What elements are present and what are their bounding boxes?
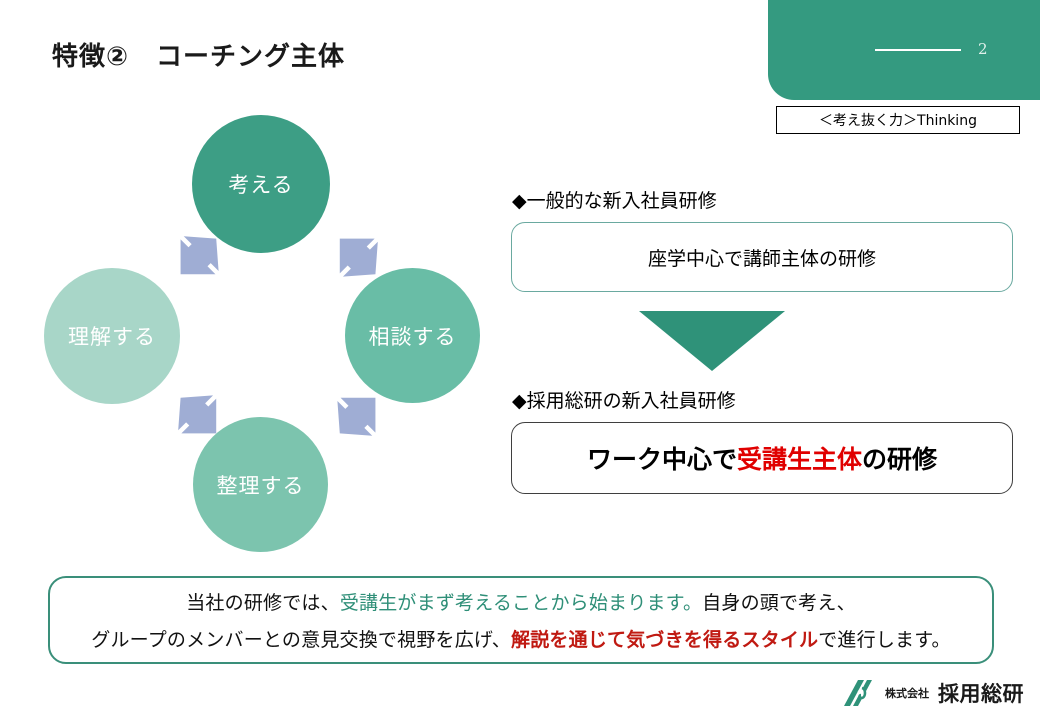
slide-canvas: 2 特徴② コーチング主体 ＜考え抜く力＞Thinking 考える 相談する 整… (0, 0, 1040, 720)
cycle-node-label: 相談する (369, 321, 457, 351)
note-text-plain: 自身の頭で考え、 (702, 592, 856, 614)
note-text-red: 解説を通じて気づきを得るスタイル (511, 629, 818, 651)
general-training-box: 座学中心で講師主体の研修 (511, 222, 1013, 292)
logo-company-prefix: 株式会社 (885, 685, 929, 701)
general-training-text: 座学中心で講師主体の研修 (648, 244, 876, 271)
cycle-node-label: 理解する (68, 321, 156, 351)
note-text-plain: 当社の研修では、 (186, 592, 340, 614)
our-training-heading: ◆採用総研の新入社員研修 (512, 386, 736, 413)
summary-note-box: 当社の研修では、受講生がまず考えることから始まります。自身の頭で考え、 グループ… (48, 576, 994, 664)
our-training-suffix: の研修 (862, 440, 937, 476)
summary-note-line-2: グループのメンバーとの意見交換で視野を広げ、解説を通じて気づきを得るスタイルで進… (91, 625, 950, 652)
note-text-teal: 受講生がまず考えることから始まります。 (340, 592, 702, 614)
cycle-node-label: 考える (228, 169, 293, 199)
down-arrow-icon (639, 311, 785, 371)
logo-company-name: 採用総研 (938, 678, 1024, 708)
general-training-heading: ◆一般的な新入社員研修 (512, 186, 717, 213)
cycle-node-understand: 理解する (44, 268, 180, 404)
thinking-tag-label: ＜考え抜く力＞Thinking (819, 110, 977, 130)
page-title: 特徴② コーチング主体 (52, 36, 345, 73)
note-text-plain: で進行します。 (818, 629, 951, 651)
thinking-tag: ＜考え抜く力＞Thinking (776, 106, 1020, 134)
header-rule (875, 49, 961, 51)
our-training-highlight: 受講生主体 (737, 440, 862, 476)
company-logo: 株式会社 採用総研 (842, 678, 1024, 708)
page-number: 2 (978, 40, 1008, 58)
summary-note-line-1: 当社の研修では、受講生がまず考えることから始まります。自身の頭で考え、 (186, 588, 856, 615)
cycle-node-label: 整理する (217, 470, 305, 500)
cycle-diagram: 考える 相談する 整理する 理解する (30, 110, 500, 550)
logo-slash-icon (842, 678, 876, 708)
our-training-prefix: ワーク中心で (587, 440, 737, 476)
note-text-plain: グループのメンバーとの意見交換で視野を広げ、 (91, 629, 511, 651)
our-training-box: ワーク中心で受講生主体の研修 (511, 422, 1013, 494)
